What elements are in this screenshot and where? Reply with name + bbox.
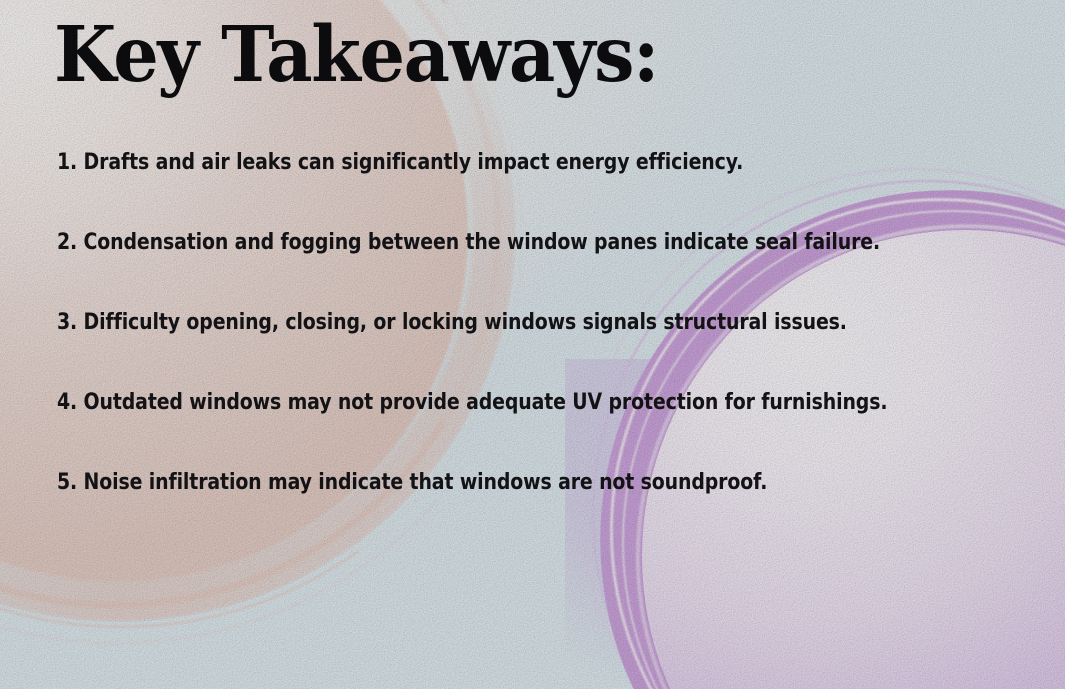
takeaway-list: 1. Drafts and air leaks can significantl…	[57, 152, 1025, 494]
page-title: Key Takeaways:	[54, 17, 658, 94]
list-item: 1. Drafts and air leaks can significantl…	[57, 152, 889, 174]
list-item: 4. Outdated windows may not provide adeq…	[57, 392, 889, 414]
list-item: 5. Noise infiltration may indicate that …	[57, 472, 889, 494]
key-takeaways-poster: Key Takeaways: 1. Drafts and air leaks c…	[0, 0, 1065, 689]
poster-content: Key Takeaways: 1. Drafts and air leaks c…	[0, 0, 1065, 689]
list-item: 2. Condensation and fogging between the …	[57, 232, 889, 254]
list-item: 3. Difficulty opening, closing, or locki…	[57, 312, 889, 334]
